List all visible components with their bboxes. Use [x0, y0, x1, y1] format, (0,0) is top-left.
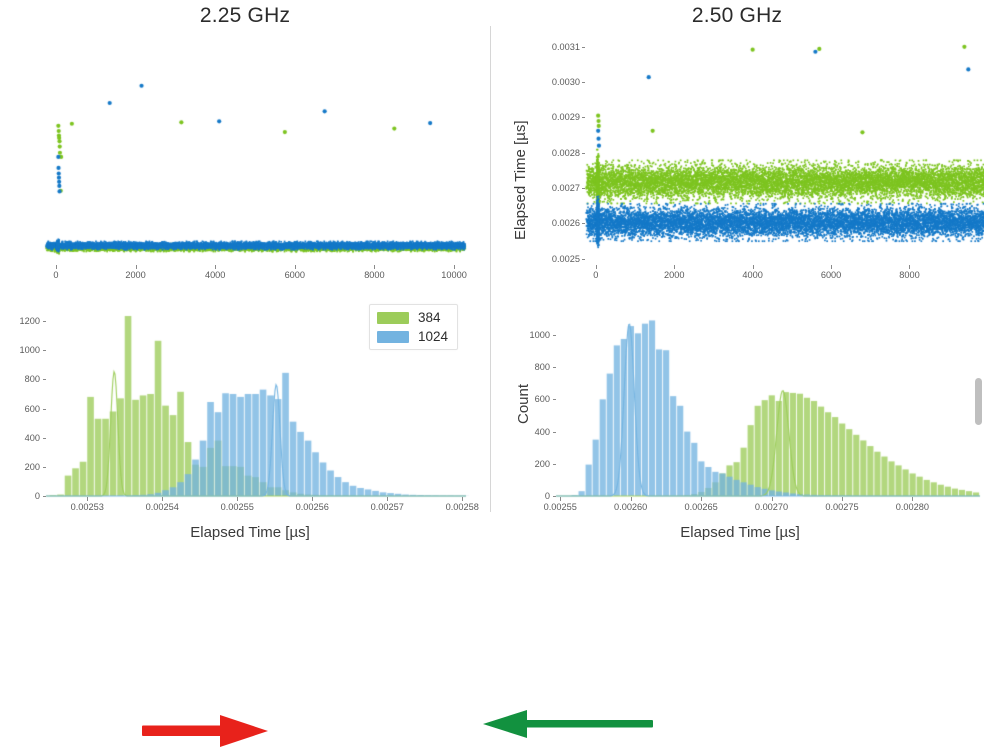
- axis-tick-label: 2000: [664, 270, 684, 280]
- axis-tick-mark: [553, 432, 556, 433]
- axis-tick-label: 0.00275: [825, 502, 858, 512]
- histogram-left: 020040060080010001200 0.002530.002540.00…: [0, 296, 490, 551]
- axis-tick-mark: [454, 265, 455, 269]
- axis-tick-mark: [553, 367, 556, 368]
- axis-tick-mark: [56, 265, 57, 269]
- axis-tick-label: 1000: [516, 330, 550, 340]
- axis-tick-mark: [43, 409, 46, 410]
- arrow-left-icon: [475, 702, 655, 746]
- legend-label-1024: 1024: [418, 329, 448, 344]
- axis-tick-label: 0: [516, 491, 550, 501]
- axis-tick-mark: [553, 335, 556, 336]
- axis-tick-label: 0.00270: [755, 502, 788, 512]
- axis-tick-mark: [295, 265, 296, 269]
- axis-tick-label: 8000: [364, 270, 384, 280]
- axis-tick-label: 0: [53, 270, 58, 280]
- axis-tick-label: 1200: [6, 316, 40, 326]
- panel-2p25: 2.25 GHz 0200040006000800010000 02004006…: [0, 0, 490, 551]
- legend-swatch-1024: [377, 331, 409, 343]
- scatter-plot-left: 0200040006000800010000: [0, 28, 490, 293]
- axis-tick-mark: [162, 497, 163, 501]
- axis-tick-label: 800: [516, 362, 550, 372]
- legend-item-384[interactable]: 384: [377, 310, 448, 325]
- axis-tick-mark: [43, 467, 46, 468]
- axis-tick-label: 4000: [742, 270, 762, 280]
- axis-tick-mark: [582, 259, 585, 260]
- legend[interactable]: 384 1024: [369, 304, 458, 350]
- axis-tick-mark: [582, 117, 585, 118]
- axis-tick-mark: [582, 82, 585, 83]
- axis-tick-label: 2000: [125, 270, 145, 280]
- axis-tick-label: 0.0026: [538, 218, 580, 228]
- axis-tick-label: 0.00257: [371, 502, 404, 512]
- axis-tick-mark: [387, 497, 388, 501]
- arrow-right-icon: [140, 710, 270, 752]
- axis-tick-mark: [582, 188, 585, 189]
- y-axis-label-right-hist: Count: [515, 384, 532, 424]
- legend-swatch-384: [377, 312, 409, 324]
- axis-tick-mark: [43, 321, 46, 322]
- axis-tick-label: 8000: [899, 270, 919, 280]
- scrollbar-thumb[interactable]: [975, 378, 982, 425]
- x-axis-label-left: Elapsed Time [µs]: [30, 524, 470, 541]
- axis-tick-mark: [553, 496, 556, 497]
- x-axis-label-right: Elapsed Time [µs]: [530, 524, 950, 541]
- axis-tick-mark: [560, 497, 561, 501]
- axis-tick-mark: [374, 265, 375, 269]
- axis-tick-mark: [772, 497, 773, 501]
- axis-tick-mark: [596, 265, 597, 269]
- axis-tick-label: 0.0029: [538, 112, 580, 122]
- legend-item-1024[interactable]: 1024: [377, 329, 448, 344]
- axis-tick-mark: [701, 497, 702, 501]
- axis-tick-label: 0.00265: [684, 502, 717, 512]
- axis-tick-mark: [631, 497, 632, 501]
- histogram-right: 02004006008001000 0.002550.002600.002650…: [490, 296, 984, 551]
- axis-tick-label: 400: [516, 427, 550, 437]
- axis-tick-label: 6000: [285, 270, 305, 280]
- axis-tick-label: 200: [6, 462, 40, 472]
- axis-tick-mark: [674, 265, 675, 269]
- axis-tick-label: 6000: [821, 270, 841, 280]
- axis-tick-label: 1000: [6, 345, 40, 355]
- axis-tick-label: 800: [6, 374, 40, 384]
- axis-tick-mark: [582, 153, 585, 154]
- axis-tick-mark: [753, 265, 754, 269]
- axis-tick-label: 4000: [205, 270, 225, 280]
- axis-tick-mark: [582, 223, 585, 224]
- axis-tick-label: 10000: [441, 270, 467, 280]
- axis-tick-label: 0.0030: [538, 77, 580, 87]
- axis-tick-mark: [43, 438, 46, 439]
- axis-tick-mark: [237, 497, 238, 501]
- axis-tick-label: 0.00255: [544, 502, 577, 512]
- axis-tick-label: 0.00254: [146, 502, 179, 512]
- axis-tick-mark: [136, 265, 137, 269]
- axis-tick-mark: [43, 379, 46, 380]
- axis-tick-mark: [842, 497, 843, 501]
- axis-tick-label: 0.0025: [538, 254, 580, 264]
- legend-label-384: 384: [418, 310, 441, 325]
- axis-tick-mark: [462, 497, 463, 501]
- panel-title-left: 2.25 GHz: [0, 4, 490, 28]
- axis-tick-mark: [553, 399, 556, 400]
- axis-tick-mark: [312, 497, 313, 501]
- axis-tick-label: 0.00260: [614, 502, 647, 512]
- scatter-canvas-left: [0, 28, 490, 293]
- scatter-plot-right: 0.00250.00260.00270.00280.00290.00300.00…: [490, 28, 984, 293]
- axis-tick-label: 400: [6, 433, 40, 443]
- figure-root: 2.25 GHz 0200040006000800010000 02004006…: [0, 0, 984, 551]
- axis-tick-mark: [909, 265, 910, 269]
- axis-tick-label: 600: [6, 404, 40, 414]
- axis-tick-label: 0.00253: [71, 502, 104, 512]
- axis-tick-label: 0: [6, 491, 40, 501]
- axis-tick-mark: [553, 464, 556, 465]
- axis-tick-label: 0.0031: [538, 42, 580, 52]
- axis-tick-mark: [43, 350, 46, 351]
- axis-tick-label: 0.0027: [538, 183, 580, 193]
- axis-tick-label: 0.00280: [896, 502, 929, 512]
- panel-2p50: 2.50 GHz 0.00250.00260.00270.00280.00290…: [490, 0, 984, 551]
- axis-tick-label: 0.0028: [538, 148, 580, 158]
- axis-tick-label: 0.00256: [296, 502, 329, 512]
- axis-tick-mark: [215, 265, 216, 269]
- axis-tick-label: 0.00255: [221, 502, 254, 512]
- histogram-canvas-right: [490, 296, 984, 551]
- axis-tick-mark: [912, 497, 913, 501]
- axis-tick-label: 200: [516, 459, 550, 469]
- axis-tick-mark: [831, 265, 832, 269]
- axis-tick-mark: [43, 496, 46, 497]
- axis-tick-label: 0.00258: [446, 502, 479, 512]
- axis-tick-mark: [87, 497, 88, 501]
- y-axis-label-right-scatter: Elapsed Time [µs]: [512, 120, 529, 240]
- panel-title-right: 2.50 GHz: [490, 4, 984, 28]
- axis-tick-label: 0: [593, 270, 598, 280]
- axis-tick-mark: [582, 47, 585, 48]
